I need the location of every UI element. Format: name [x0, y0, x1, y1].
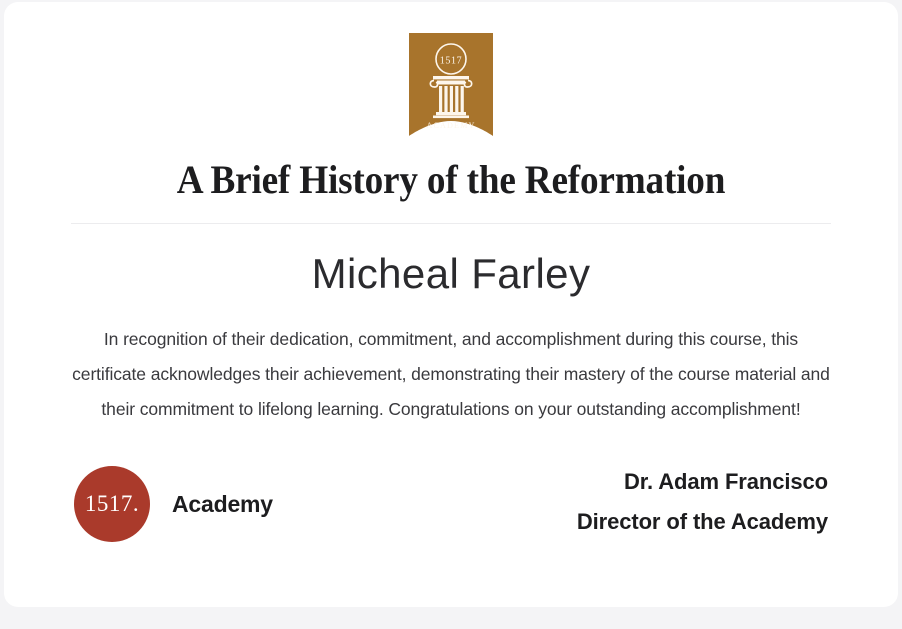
recipient-name: Micheal Farley — [4, 250, 898, 298]
certificate-title: A Brief History of the Reformation — [35, 156, 866, 203]
certificate-body-text: In recognition of their dedication, comm… — [70, 322, 832, 427]
svg-text:ACADEMY: ACADEMY — [426, 121, 475, 130]
seal-badge: 1517. — [74, 466, 150, 542]
seal-year: 1517. — [85, 491, 139, 517]
certificate-footer: 1517. Academy Dr. Adam Francisco Directo… — [4, 454, 898, 564]
logo-container: 1517 ACADEMY — [4, 33, 898, 136]
certificate-card: 1517 ACADEMY A Brief Histor — [4, 2, 898, 607]
academy-logo: 1517 ACADEMY — [409, 33, 493, 136]
classical-column-emblem-icon: 1517 ACADEMY — [409, 33, 493, 136]
svg-text:1517: 1517 — [440, 56, 462, 67]
title-divider — [71, 223, 831, 224]
signer-name: Dr. Adam Francisco — [577, 462, 828, 502]
signer-role: Director of the Academy — [577, 502, 828, 542]
seal-label: Academy — [172, 491, 273, 518]
academy-seal-group: 1517. Academy — [74, 466, 273, 542]
signature-block: Dr. Adam Francisco Director of the Acade… — [577, 462, 828, 542]
